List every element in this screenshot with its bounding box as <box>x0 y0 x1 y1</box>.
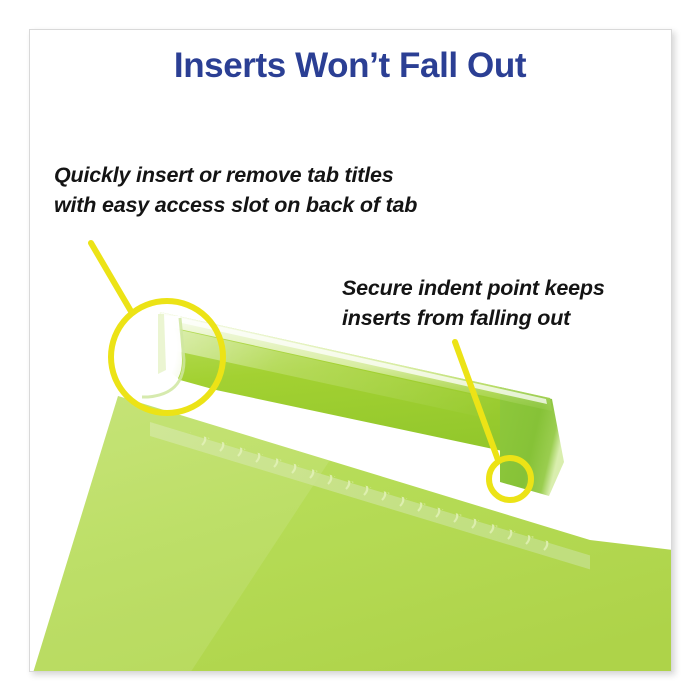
callout-line-1: Secure indent point keeps <box>342 273 605 303</box>
callout-line-1: Quickly insert or remove tab titles <box>54 160 417 190</box>
callout-text-secure-indent-point: Secure indent point keeps inserts from f… <box>342 273 605 333</box>
callout-line-2: with easy access slot on back of tab <box>54 190 417 220</box>
product-feature-image: Inserts Won’t Fall Out Quickly insert or… <box>0 0 700 700</box>
page-title: Inserts Won’t Fall Out <box>0 44 700 88</box>
divider-body-panel <box>33 396 672 672</box>
divider-product-illustration <box>30 30 672 672</box>
photo-frame <box>29 29 672 672</box>
callout-line-2: inserts from falling out <box>342 303 605 333</box>
callout-text-easy-access-slot: Quickly insert or remove tab titles with… <box>54 160 417 220</box>
